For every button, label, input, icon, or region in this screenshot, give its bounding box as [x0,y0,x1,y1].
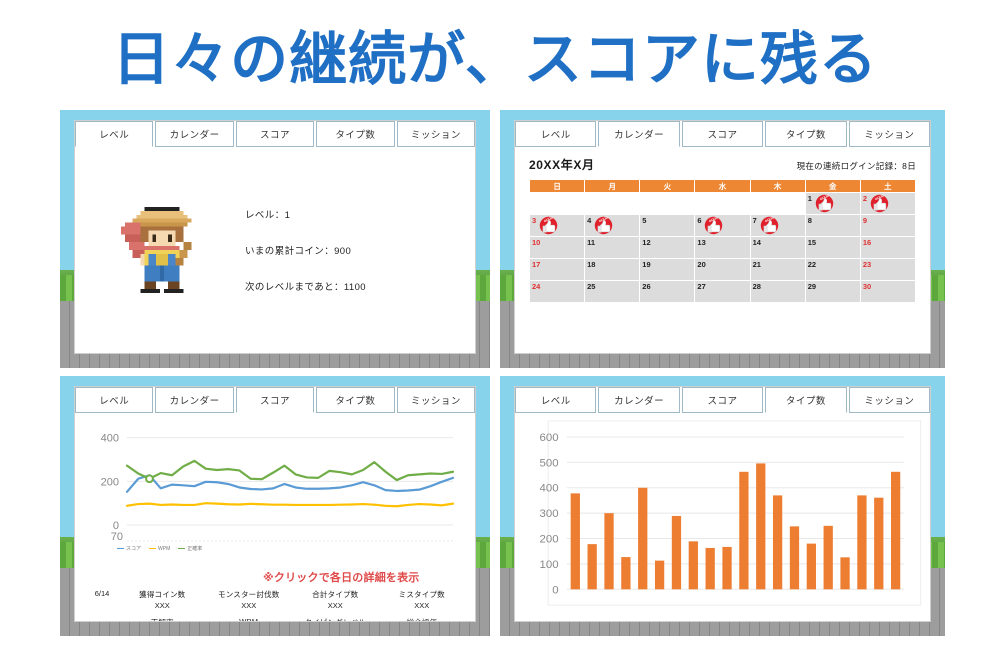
calendar-week-row: 17181920212223 [530,259,916,281]
calendar-cell-day-2[interactable]: 2 GOOD [860,193,915,215]
page-title: 日々の継続が、スコアに残る [112,12,878,96]
legend-label: スコア [126,545,141,552]
tab-calendar[interactable]: カレンダー [155,121,233,147]
calendar-cell-day-27[interactable]: 27 [695,281,750,303]
weekday-header-tue: 火 [640,180,695,193]
legend-label: 正確率 [187,545,202,552]
coin-total-text: いまの累計コイン：900 [245,243,461,257]
tab-strip-typecount: レベル カレンダー スコア タイプ数 ミッション [515,387,930,413]
calendar-cell-day-16[interactable]: 16 [860,237,915,259]
svg-text:400: 400 [101,433,119,445]
calendar-cell-day-19[interactable]: 19 [640,259,695,281]
stat-accuracy: 正解率 XXX [119,617,206,621]
stat-coins: 獲得コイン数 XXX [119,589,206,610]
weekday-header-fri: 金 [805,180,860,193]
bar-2[interactable] [604,513,613,589]
tab-mission[interactable]: ミッション [397,121,475,147]
calendar-week-row: 10111213141516 [530,237,916,259]
calendar-cell-day-12[interactable]: 12 [640,237,695,259]
bar-0[interactable] [571,493,580,589]
bar-9[interactable] [722,547,731,589]
legend-item-1: WPM [149,545,170,552]
stat-wpm: WPM XXX [206,617,293,621]
tab-typecount[interactable]: タイプ数 [316,387,394,413]
calendar-cell-empty [750,193,805,215]
legend-swatch [149,548,156,550]
tab-level[interactable]: レベル [515,121,596,147]
tab-level[interactable]: レベル [75,121,153,147]
screenshot-calendar: レベル カレンダー スコア タイプ数 ミッション 20XX年X月 現在の連続ログ… [500,110,945,368]
calendar-body: 1 GOOD 2 GOOD 3 GOOD 4 GOOD 56 GOOD 7 [530,193,916,303]
calendar-weekday-row: 日 月 火 水 木 金 土 [530,180,916,193]
svg-text:70: 70 [111,531,123,543]
panel-body-calendar: 20XX年X月 現在の連続ログイン記録：8日 日 月 火 水 木 金 土 [515,147,930,353]
login-streak-label: 現在の連続ログイン記録：8日 [797,160,916,172]
calendar-cell-day-28[interactable]: 28 [750,281,805,303]
calendar-cell-day-25[interactable]: 25 [585,281,640,303]
tab-mission[interactable]: ミッション [849,387,930,413]
calendar-cell-day-15[interactable]: 15 [805,237,860,259]
bar-5[interactable] [655,561,664,590]
stat-mistypes: ミスタイプ数 XXX [379,589,466,610]
tab-score[interactable]: スコア [236,121,314,147]
calendar-cell-day-10[interactable]: 10 [530,237,585,259]
good-stamp-icon: GOOD [870,194,889,213]
legend-item-0: スコア [117,545,141,552]
good-stamp-icon: GOOD [539,216,558,235]
line-series-1 [127,503,453,506]
good-stamp-icon: GOOD [594,216,613,235]
legend-swatch [117,548,124,550]
calendar-cell-day-6[interactable]: 6 GOOD [695,215,750,237]
score-line-chart[interactable]: 020040070 [75,413,475,551]
tab-typecount[interactable]: タイプ数 [765,387,846,413]
bar-16[interactable] [840,557,849,589]
svg-text:200: 200 [540,534,559,546]
bar-7[interactable] [689,541,698,589]
calendar-cell-day-20[interactable]: 20 [695,259,750,281]
calendar-table: 日 月 火 水 木 金 土 1 GOOD 2 GOOD [529,179,916,303]
legend-label: WPM [158,546,170,552]
calendar-month-label: 20XX年X月 [529,156,595,173]
svg-text:500: 500 [540,458,559,470]
tab-score[interactable]: スコア [682,121,763,147]
bar-3[interactable] [621,557,630,589]
tab-strip-score: レベル カレンダー スコア タイプ数 ミッション [75,387,475,413]
weekday-header-mon: 月 [585,180,640,193]
bar-11[interactable] [756,463,765,589]
calendar-cell-day-5[interactable]: 5 [640,215,695,237]
calendar-cell-day-4[interactable]: 4 GOOD [585,215,640,237]
pixel-hero-icon [121,202,207,298]
calendar-cell-day-1[interactable]: 1 GOOD [805,193,860,215]
legend-item-2: 正確率 [178,545,202,552]
stats-row-2: 正解率 XXX WPM XXX タイピングレベル XXX [85,617,465,621]
calendar-cell-day-13[interactable]: 13 [695,237,750,259]
bar-17[interactable] [857,495,866,589]
calendar-cell-day-3[interactable]: 3 GOOD [530,215,585,237]
avatar [89,202,239,298]
panel-body-typecount: 0100200300400500600 [515,413,930,621]
bar-12[interactable] [773,495,782,589]
calendar-cell-day-24[interactable]: 24 [530,281,585,303]
bar-8[interactable] [706,548,715,589]
calendar-cell-empty [695,193,750,215]
app-window-calendar: レベル カレンダー スコア タイプ数 ミッション 20XX年X月 現在の連続ログ… [514,120,931,354]
screenshot-grid: レベル カレンダー スコア タイプ数 ミッション [0,110,990,658]
app-window-score: レベル カレンダー スコア タイプ数 ミッション 020040070 スコア W… [74,386,476,622]
good-stamp-icon: GOOD [760,216,779,235]
app-window-typecount: レベル カレンダー スコア タイプ数 ミッション 010020030040050… [514,386,931,622]
calendar-week-row: 1 GOOD 2 GOOD [530,193,916,215]
line-series-2 [127,461,453,480]
calendar-header: 20XX年X月 現在の連続ログイン記録：8日 [515,147,930,179]
stats-date-label: 6/14 [85,589,119,610]
weekday-header-sun: 日 [530,180,585,193]
good-stamp-icon: GOOD [815,194,834,213]
bar-19[interactable] [891,472,900,590]
tab-mission[interactable]: ミッション [397,387,475,413]
calendar-cell-day-7[interactable]: 7 GOOD [750,215,805,237]
tab-calendar[interactable]: カレンダー [155,387,233,413]
stat-monsters: モンスター討伐数 XXX [206,589,293,610]
screenshot-level: レベル カレンダー スコア タイプ数 ミッション [60,110,490,368]
tab-strip-level: レベル カレンダー スコア タイプ数 ミッション [75,121,475,147]
typecount-bar-chart[interactable]: 0100200300400500600 [515,413,930,621]
tab-strip-calendar: レベル カレンダー スコア タイプ数 ミッション [515,121,930,147]
stat-total-types: 合計タイプ数 XXX [292,589,379,610]
svg-text:300: 300 [540,508,559,520]
weekday-header-sat: 土 [860,180,915,193]
good-stamp-icon: GOOD [704,216,723,235]
score-stats-table: 6/14 獲得コイン数 XXX モンスター討伐数 XXX 合計タイプ数 [75,589,475,621]
screenshot-typecount: レベル カレンダー スコア タイプ数 ミッション 010020030040050… [500,376,945,636]
level-value-text: レベル：1 [245,207,461,221]
calendar-cell-day-18[interactable]: 18 [585,259,640,281]
tab-calendar[interactable]: カレンダー [598,121,679,147]
tab-calendar[interactable]: カレンダー [598,387,679,413]
bar-4[interactable] [638,488,647,590]
app-window-level: レベル カレンダー スコア タイプ数 ミッション [74,120,476,354]
tab-mission[interactable]: ミッション [849,121,930,147]
svg-text:0: 0 [552,584,558,596]
page-title-bar: 日々の継続が、スコアに残る [0,0,990,108]
bar-14[interactable] [807,544,816,590]
level-info-list: レベル：1 いまの累計コイン：900 次のレベルまであと：1100 [239,207,461,293]
calendar-cell-empty [530,193,585,215]
calendar-cell-day-23[interactable]: 23 [860,259,915,281]
legend-swatch [178,548,185,550]
screenshot-score: レベル カレンダー スコア タイプ数 ミッション 020040070 スコア W… [60,376,490,636]
calendar-cell-day-21[interactable]: 21 [750,259,805,281]
bar-18[interactable] [874,498,883,590]
stat-overall-rating: 総合評価 XXX [379,617,466,621]
calendar-cell-empty [585,193,640,215]
calendar-cell-empty [640,193,695,215]
tab-level[interactable]: レベル [75,387,153,413]
calendar-cell-day-29[interactable]: 29 [805,281,860,303]
svg-text:600: 600 [540,432,559,444]
calendar-cell-day-8[interactable]: 8 [805,215,860,237]
stat-typing-level: タイピングレベル XXX [292,617,379,621]
click-hint-text: ※クリックで各日の詳細を表示 [263,569,420,585]
bar-15[interactable] [824,526,833,589]
bar-1[interactable] [588,544,597,589]
tab-score[interactable]: スコア [236,387,314,413]
chart-selected-point[interactable] [146,475,153,482]
tab-score[interactable]: スコア [682,387,763,413]
bar-6[interactable] [672,516,681,589]
calendar-cell-day-26[interactable]: 26 [640,281,695,303]
calendar-cell-day-17[interactable]: 17 [530,259,585,281]
bar-13[interactable] [790,526,799,589]
calendar-cell-day-14[interactable]: 14 [750,237,805,259]
svg-text:400: 400 [540,483,559,495]
weekday-header-wed: 水 [695,180,750,193]
tab-level[interactable]: レベル [515,387,596,413]
calendar-cell-day-9[interactable]: 9 [860,215,915,237]
calendar-week-row: 3 GOOD 4 GOOD 56 GOOD 7 GOOD 89 [530,215,916,237]
next-level-text: 次のレベルまであと：1100 [245,279,461,293]
svg-text:100: 100 [540,559,559,571]
tab-typecount[interactable]: タイプ数 [765,121,846,147]
stats-row-1: 6/14 獲得コイン数 XXX モンスター討伐数 XXX 合計タイプ数 [85,589,465,610]
calendar-week-row: 24252627282930 [530,281,916,303]
calendar-cell-day-22[interactable]: 22 [805,259,860,281]
panel-body-level: レベル：1 いまの累計コイン：900 次のレベルまであと：1100 [75,147,475,353]
weekday-header-thu: 木 [750,180,805,193]
calendar-cell-day-11[interactable]: 11 [585,237,640,259]
stats-date-spacer [85,617,119,621]
calendar-cell-day-30[interactable]: 30 [860,281,915,303]
panel-body-score: 020040070 スコア WPM 正確率 ※クリックで各日の詳細を表示 6/1… [75,413,475,621]
svg-text:200: 200 [101,476,119,488]
tab-typecount[interactable]: タイプ数 [316,121,394,147]
bar-10[interactable] [739,472,748,590]
score-chart-legend: スコア WPM 正確率 [117,545,202,552]
